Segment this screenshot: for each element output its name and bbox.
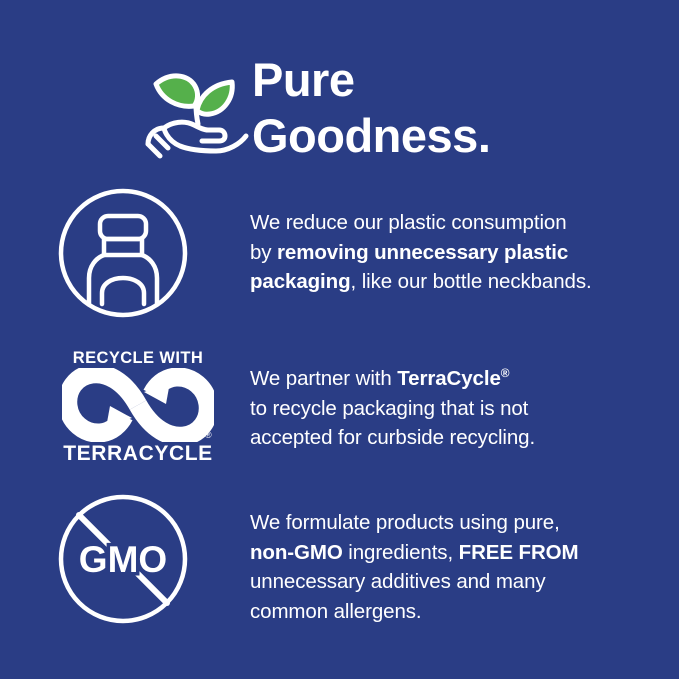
terracycle-logo-icon: RECYCLE WITH ® TERRACYCLE bbox=[56, 344, 224, 480]
feature-text-plastic-reduction: We reduce our plastic consumptionby remo… bbox=[250, 208, 670, 297]
text-line: packaging, like our bottle neckbands. bbox=[250, 267, 670, 297]
bottle-neckband-circle-icon bbox=[56, 186, 224, 326]
text-line: accepted for curbside recycling. bbox=[250, 423, 670, 453]
text-line: common allergens. bbox=[250, 597, 670, 627]
terracycle-badge-top-text: RECYCLE WITH bbox=[62, 348, 214, 368]
registered-mark: ® bbox=[501, 366, 510, 380]
text-line: to recycle packaging that is not bbox=[250, 394, 670, 424]
registered-mark: ® bbox=[205, 430, 212, 440]
gmo-icon-label: GMO bbox=[79, 539, 167, 580]
headline-line-2: Goodness. bbox=[252, 108, 672, 164]
terracycle-badge-bottom-text: TERRACYCLE bbox=[62, 442, 214, 466]
feature-row-plastic-reduction: We reduce our plastic consumptionby remo… bbox=[0, 186, 679, 326]
page-title: Pure Goodness. bbox=[252, 52, 672, 164]
no-gmo-circle-icon: GMO bbox=[56, 492, 224, 638]
text-line: We partner with TerraCycle® bbox=[250, 364, 670, 394]
feature-row-non-gmo: GMO We formulate products using pure,non… bbox=[0, 492, 679, 638]
infinity-recycle-loop-icon: ® bbox=[62, 368, 214, 442]
headline-line-1: Pure bbox=[252, 52, 672, 108]
text-line: non-GMO ingredients, FREE FROM bbox=[250, 538, 670, 568]
text-line: by removing unnecessary plastic bbox=[250, 238, 670, 268]
feature-row-terracycle: RECYCLE WITH ® TERRACYCLE We partner wit… bbox=[0, 344, 679, 480]
feature-text-non-gmo: We formulate products using pure,non-GMO… bbox=[250, 508, 670, 626]
pure-goodness-infographic: Pure Goodness. We reduce our plastic con… bbox=[0, 0, 679, 679]
text-line: We formulate products using pure, bbox=[250, 508, 670, 538]
feature-text-terracycle: We partner with TerraCycle®to recycle pa… bbox=[250, 364, 670, 453]
headline-row: Pure Goodness. bbox=[0, 26, 679, 156]
text-line: We reduce our plastic consumption bbox=[250, 208, 670, 238]
text-line: unnecessary additives and many bbox=[250, 567, 670, 597]
hand-holding-sprout-icon bbox=[142, 56, 254, 164]
terracycle-badge: RECYCLE WITH ® TERRACYCLE bbox=[62, 348, 214, 466]
